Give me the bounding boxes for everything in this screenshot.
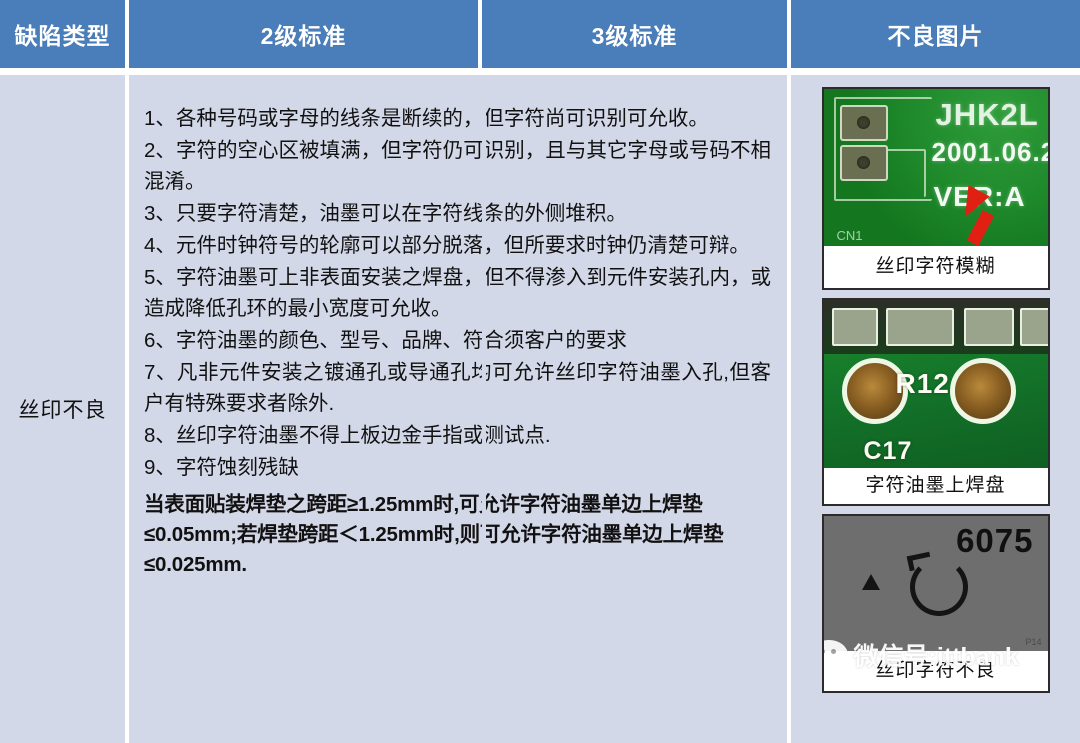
pcb-smd-pad: [886, 308, 954, 346]
column-header-defect-photo: 不良图片: [791, 0, 1080, 68]
pcb-photo-silkscreen-blurred: CN1 JHK2L 2001.06.2 VER:A: [824, 89, 1048, 246]
defect-photo-caption: 丝印字符模糊: [824, 246, 1048, 288]
defect-photo-card[interactable]: CN1 JHK2L 2001.06.2 VER:A 丝印字符模糊: [822, 87, 1050, 290]
defect-type-label: 丝印不良: [0, 75, 125, 743]
cell-defect-photos: CN1 JHK2L 2001.06.2 VER:A 丝印字符模糊: [791, 75, 1080, 743]
pcb-corner-mark: P14: [1025, 637, 1041, 647]
column-header-level-3-standard-label: 3级标准: [592, 17, 678, 51]
column-header-defect-photo-label: 不良图片: [888, 17, 984, 51]
table-header-row: 缺陷类型 2级标准 3级标准 不良图片: [0, 0, 1080, 68]
pcb-smd-pad: [964, 308, 1014, 346]
criteria-item: 4、元件时钟符号的轮廓可以部分脱落，但所要求时钟仍清楚可辩。: [144, 230, 771, 261]
pcb-photo-silkscreen-defect: 6075 P14: [824, 516, 1048, 651]
pcb-silkscreen-text: 6075: [956, 522, 1033, 560]
defect-photo-caption: 字符油墨上焊盘: [824, 468, 1048, 504]
pcb-pad: [840, 145, 888, 181]
pcb-silkscreen-text: C17: [864, 437, 913, 466]
pcb-through-hole-pad: [950, 358, 1016, 424]
cell-defect-type: 丝印不良: [0, 75, 129, 743]
pcb-silkscreen-text: R12: [896, 368, 950, 400]
criteria-item: 1、各种号码或字母的线条是断续的，但字符尚可识别可允收。: [144, 103, 771, 134]
cell-criteria: 1、各种号码或字母的线条是断续的，但字符尚可识别可允收。 2、字符的空心区被填满…: [129, 75, 791, 743]
criteria-item: 3、只要字符清楚，油墨可以在字符线条的外侧堆积。: [144, 198, 771, 229]
pcb-photo-ink-on-pad: R12 C17: [824, 300, 1048, 468]
criteria-note: 当表面贴装焊垫之跨距≥1.25mm时,可允许字符油墨单边上焊垫≤0.05mm;若…: [144, 490, 771, 580]
pcb-silkscreen-text: 2001.06.2: [932, 137, 1048, 168]
criteria-item: 7、凡非元件安装之镀通孔或导通孔均可允许丝印字符油墨入孔,但客户有特殊要求者除外…: [144, 357, 771, 419]
defect-photo-caption: 丝印字符不良: [824, 651, 1048, 691]
criteria-item: 9、字符蚀刻残缺: [144, 452, 771, 483]
pcb-trace: [886, 149, 926, 197]
column-header-level-2-standard-label: 2级标准: [261, 17, 347, 51]
defect-standard-table: 缺陷类型 2级标准 3级标准 不良图片 丝印不良 1、各种号码或字母的线条是断续…: [0, 0, 1080, 743]
column-header-defect-type-label: 缺陷类型: [15, 17, 111, 51]
column-header-level-3-standard: 3级标准: [482, 0, 791, 68]
criteria-item: 5、字符油墨可上非表面安装之焊盘，但不得渗入到元件安装孔内，或造成降低孔环的最小…: [144, 262, 771, 324]
criteria-item: 6、字符油墨的颜色、型号、品牌、符合须客户的要求: [144, 325, 771, 356]
criteria-item: 8、丝印字符油墨不得上板边金手指或测试点.: [144, 420, 771, 451]
table-body-row: 丝印不良 1、各种号码或字母的线条是断续的，但字符尚可识别可允收。 2、字符的空…: [0, 75, 1080, 743]
column-header-level-2-standard: 2级标准: [129, 0, 482, 68]
defect-photo-card[interactable]: R12 C17 字符油墨上焊盘: [822, 298, 1050, 506]
triangle-mark: [862, 574, 880, 590]
defect-photo-stack: CN1 JHK2L 2001.06.2 VER:A 丝印字符模糊: [791, 75, 1080, 743]
pcb-smd-pad: [832, 308, 878, 346]
column-header-defect-type: 缺陷类型: [0, 0, 129, 68]
pcb-reference-designator: CN1: [837, 228, 863, 243]
criteria-item: 2、字符的空心区被填满，但字符仍可识别，且与其它字母或号码不相混淆。: [144, 135, 771, 197]
defect-photo-card[interactable]: 6075 P14 丝印字符不良 微信号:ittbank: [822, 514, 1050, 693]
pcb-smd-pad: [1020, 308, 1048, 346]
pcb-pad: [840, 105, 888, 141]
merged-column-divider: [482, 75, 486, 743]
pcb-silkscreen-text: JHK2L: [936, 97, 1039, 133]
criteria-list: 1、各种号码或字母的线条是断续的，但字符尚可识别可允收。 2、字符的空心区被填满…: [129, 75, 787, 611]
